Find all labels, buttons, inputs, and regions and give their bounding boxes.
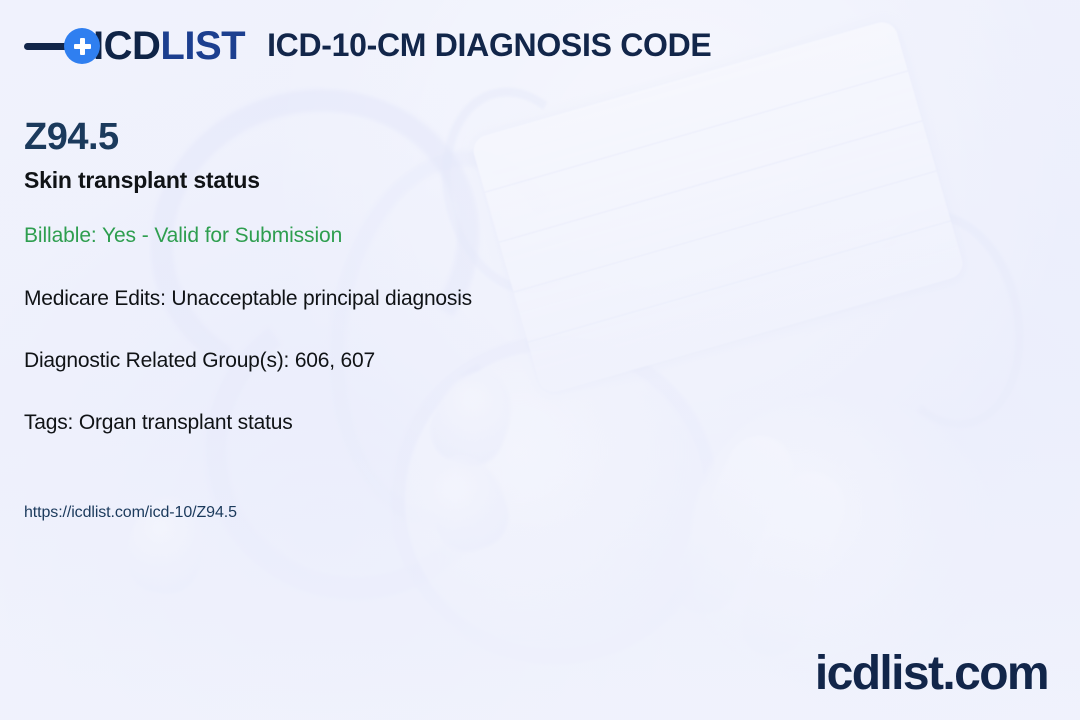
diagnosis-description: Skin transplant status (24, 168, 260, 193)
site-watermark: icdlist.com (815, 650, 1048, 698)
infographic-canvas: ICD LIST ICD-10-CM DIAGNOSIS CODE Z94.5 … (0, 0, 1080, 720)
header: ICD LIST ICD-10-CM DIAGNOSIS CODE (24, 26, 711, 66)
page-title: ICD-10-CM DIAGNOSIS CODE (267, 29, 711, 64)
logo-wordmark: ICD LIST (93, 26, 245, 66)
content-layer: ICD LIST ICD-10-CM DIAGNOSIS CODE Z94.5 … (0, 0, 1080, 720)
plus-icon (64, 28, 100, 64)
logo-word-list: LIST (160, 26, 245, 66)
logo-word-icd: ICD (93, 26, 160, 66)
diagnostic-related-groups: Diagnostic Related Group(s): 606, 607 (24, 349, 375, 372)
icdlist-logo[interactable]: ICD LIST (24, 26, 245, 66)
source-url[interactable]: https://icdlist.com/icd-10/Z94.5 (24, 505, 237, 521)
diagnosis-code: Z94.5 (24, 118, 119, 156)
tags: Tags: Organ transplant status (24, 411, 293, 434)
medicare-edits: Medicare Edits: Unacceptable principal d… (24, 287, 472, 310)
billable-status: Billable: Yes - Valid for Submission (24, 224, 342, 247)
